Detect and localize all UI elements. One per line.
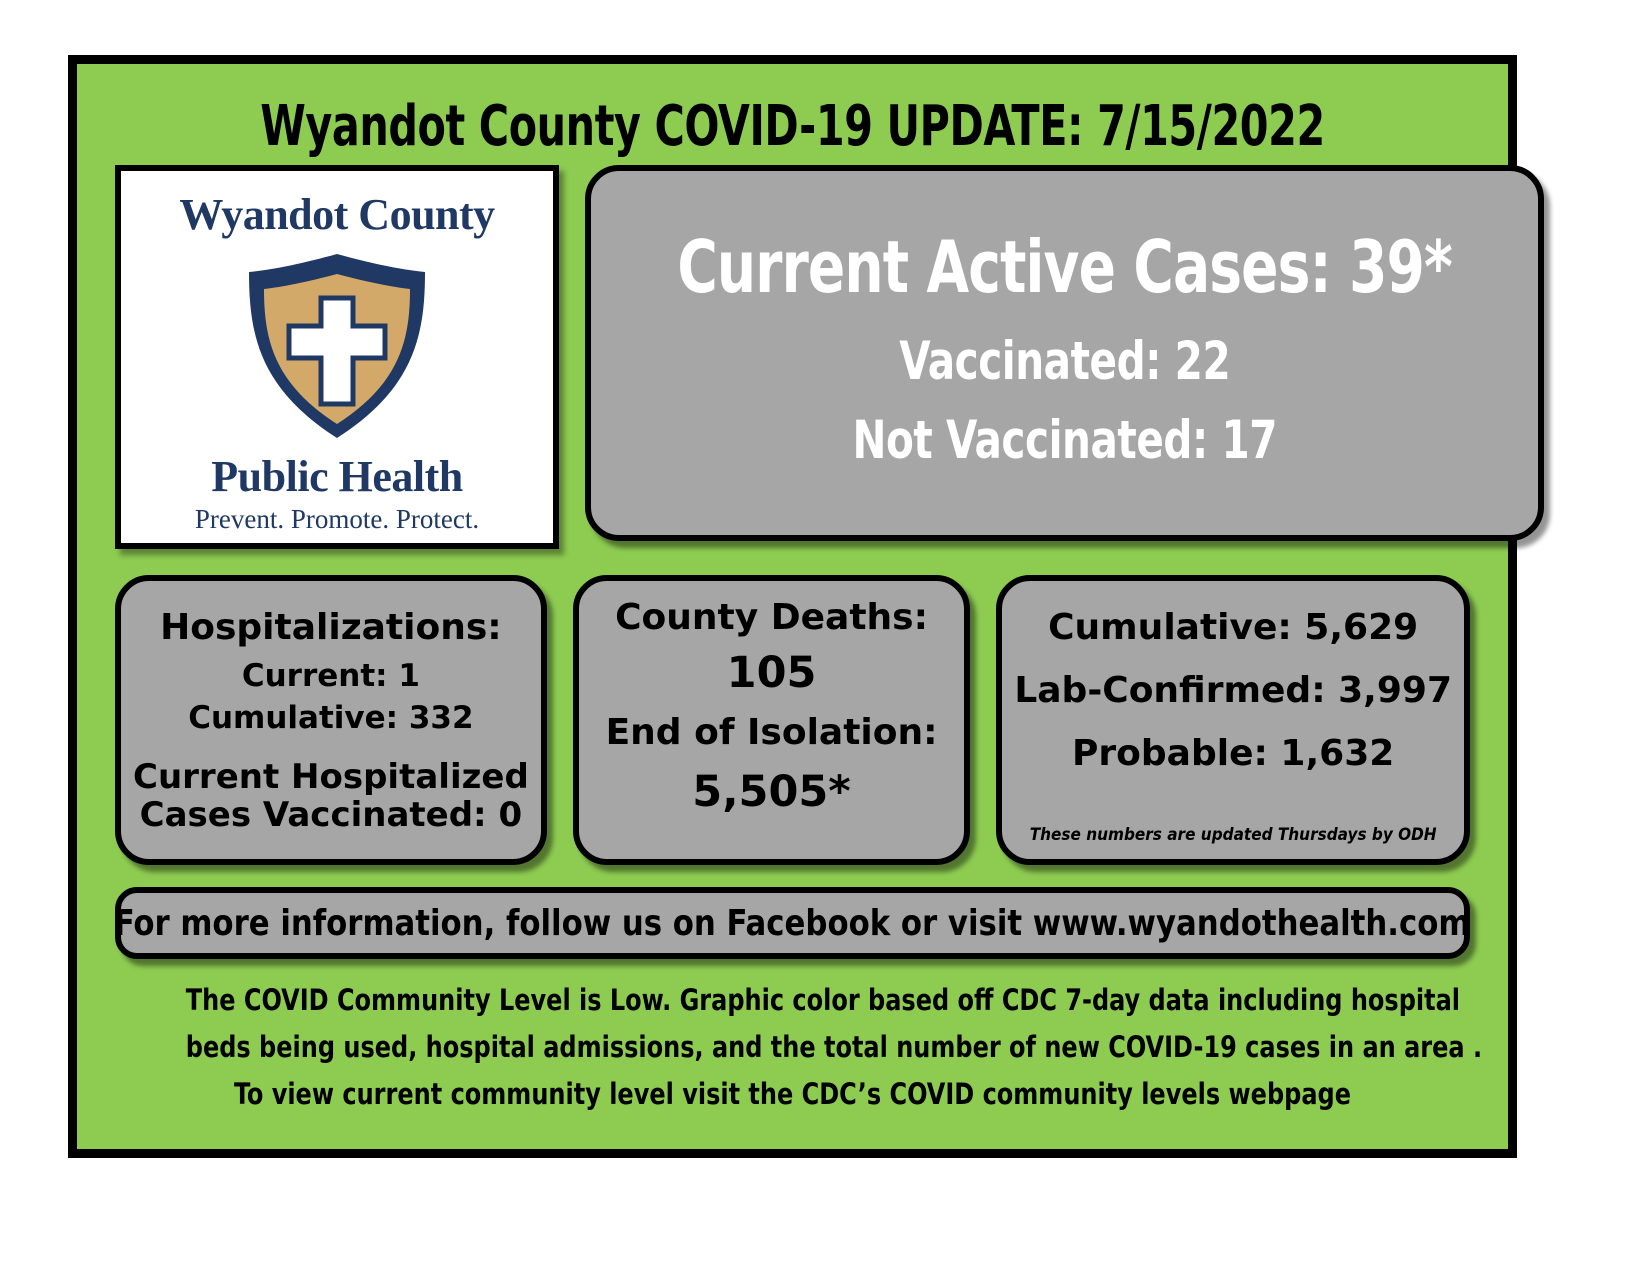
footer-line-2: beds being used, hospital admissions, an… <box>186 1024 1399 1071</box>
community-level-footer: The COVID Community Level is Low. Graphi… <box>77 959 1508 1118</box>
active-cases-vaccinated: Vaccinated: 22 <box>899 331 1230 392</box>
info-banner-text: For more information, follow us on Faceb… <box>114 903 1471 944</box>
covid-update-poster: Wyandot County COVID-19 UPDATE: 7/15/202… <box>68 55 1517 1158</box>
cumulative-total: Cumulative: 5,629 <box>1048 607 1418 648</box>
active-cases-panel: Current Active Cases: 39* Vaccinated: 22… <box>585 165 1544 541</box>
shield-cross-icon <box>237 248 437 449</box>
logo-county-name: Wyandot County <box>179 189 494 240</box>
end-of-isolation-label: End of Isolation: <box>606 712 938 753</box>
info-banner[interactable]: For more information, follow us on Faceb… <box>115 887 1470 959</box>
footer-line-1: The COVID Community Level is Low. Graphi… <box>186 977 1399 1024</box>
hospitalizations-cumulative: Cumulative: 332 <box>188 700 473 736</box>
county-deaths-panel: County Deaths: 105 End of Isolation: 5,5… <box>573 575 971 865</box>
odh-update-note: These numbers are updated Thursdays by O… <box>1030 825 1437 845</box>
active-cases-not-vaccinated: Not Vaccinated: 17 <box>852 410 1277 471</box>
footer-line-3: To view current community level visit th… <box>186 1071 1399 1118</box>
logo-tagline: Prevent. Promote. Protect. <box>195 504 479 535</box>
end-of-isolation-value: 5,505* <box>692 767 851 817</box>
county-deaths-heading: County Deaths: <box>615 597 928 638</box>
county-deaths-value: 105 <box>727 648 817 698</box>
page-title: Wyandot County COVID-19 UPDATE: 7/15/202… <box>206 64 1379 165</box>
cumulative-cases-panel: Cumulative: 5,629 Lab-Confirmed: 3,997 P… <box>996 575 1470 865</box>
logo-dept-name: Public Health <box>211 451 462 502</box>
hospitalizations-panel: Hospitalizations: Current: 1 Cumulative:… <box>115 575 547 865</box>
hospitalized-vaccinated-line2: Cases Vaccinated: 0 <box>140 796 523 834</box>
top-row: Wyandot County Public Health Prevent. Pr… <box>77 165 1508 549</box>
agency-logo: Wyandot County Public Health Prevent. Pr… <box>115 165 559 549</box>
hospitalized-vaccinated-line1: Current Hospitalized <box>133 758 529 796</box>
stats-row: Hospitalizations: Current: 1 Cumulative:… <box>77 549 1508 865</box>
info-banner-wrapper: For more information, follow us on Faceb… <box>77 865 1508 959</box>
probable-count: Probable: 1,632 <box>1072 733 1394 774</box>
hospitalizations-heading: Hospitalizations: <box>160 607 502 648</box>
hospitalizations-current: Current: 1 <box>242 658 420 694</box>
active-cases-headline: Current Active Cases: 39* <box>677 225 1452 309</box>
lab-confirmed-count: Lab-Confirmed: 3,997 <box>1014 670 1452 711</box>
